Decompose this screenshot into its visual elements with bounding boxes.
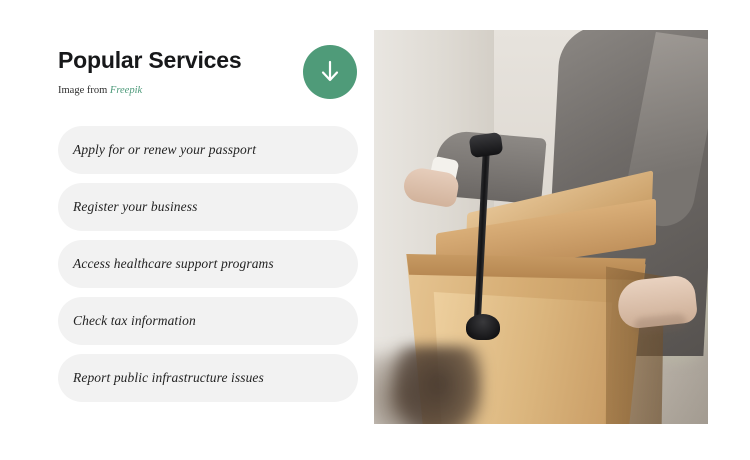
arrow-down-icon [319, 59, 341, 85]
list-item[interactable]: Register your business [58, 183, 358, 231]
podium-photo [374, 30, 708, 424]
service-label: Check tax information [73, 313, 196, 329]
service-label: Register your business [73, 199, 197, 215]
list-item[interactable]: Apply for or renew your passport [58, 126, 358, 174]
list-item[interactable]: Access healthcare support programs [58, 240, 358, 288]
scroll-down-badge[interactable] [303, 45, 357, 99]
list-item[interactable]: Report public infrastructure issues [58, 354, 358, 402]
photo-microphone-head [469, 132, 504, 158]
list-item[interactable]: Check tax information [58, 297, 358, 345]
service-label: Apply for or renew your passport [73, 142, 256, 158]
image-credit-link[interactable]: Freepik [110, 85, 142, 96]
photo-microphone-base [466, 314, 500, 340]
photo-foreground-blur [392, 346, 484, 424]
services-list: Apply for or renew your passport Registe… [58, 126, 358, 411]
popular-services-section: Popular Services Image from Freepik Appl… [0, 0, 750, 460]
service-label: Access healthcare support programs [73, 256, 274, 272]
image-credit-prefix: Image from [58, 85, 107, 96]
service-label: Report public infrastructure issues [73, 370, 264, 386]
